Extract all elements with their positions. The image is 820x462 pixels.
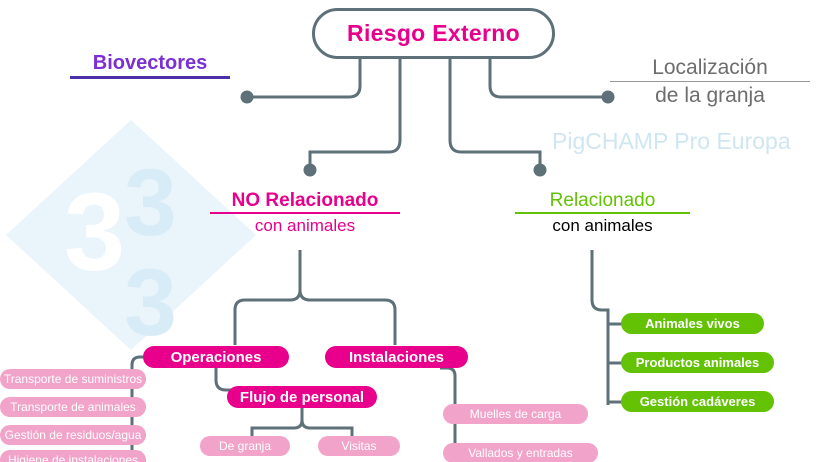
- label-localizacion-line1: Localización: [610, 56, 810, 82]
- brand-watermark-text: PigCHAMP Pro Europa: [552, 128, 820, 155]
- pill-vallados-y-entradas[interactable]: Vallados y entradas: [443, 443, 598, 462]
- label-localizacion-line2: de la granja: [610, 82, 810, 108]
- pill-gestion-de-residuos-agua[interactable]: Gestión de residuos/agua: [0, 425, 146, 445]
- pill-animales-vivos[interactable]: Animales vivos: [621, 313, 764, 334]
- label-biovectores: Biovectores: [70, 52, 230, 79]
- branch-no-relacionado-line2: con animales: [210, 214, 400, 235]
- branch-no-relacionado: NO Relacionado con animales: [210, 190, 400, 235]
- bullet-biovectores: [241, 91, 254, 104]
- pill-instalaciones[interactable]: Instalaciones: [325, 346, 468, 368]
- pill-muelles-de-carga[interactable]: Muelles de carga: [443, 404, 588, 424]
- label-localizacion: Localización de la granja: [610, 56, 810, 107]
- pill-visitas[interactable]: Visitas: [318, 436, 400, 456]
- pill-operaciones[interactable]: Operaciones: [143, 346, 289, 368]
- root-node-riesgo-externo[interactable]: Riesgo Externo: [312, 8, 555, 59]
- pill-flujo-de-personal[interactable]: Flujo de personal: [227, 386, 377, 408]
- pill-gestion-cadaveres[interactable]: Gestión cadáveres: [621, 391, 774, 412]
- pill-transporte-de-suministros[interactable]: Transporte de suministros: [0, 369, 146, 389]
- pill-higiene-de-instalaciones[interactable]: Higiene de instalaciones: [0, 450, 146, 462]
- bullet-no-relacionado: [304, 164, 317, 177]
- bullet-relacionado: [534, 164, 547, 177]
- branch-relacionado-line2: con animales: [515, 214, 690, 235]
- pill-de-granja[interactable]: De granja: [200, 436, 290, 456]
- branch-relacionado-line1: Relacionado: [515, 190, 690, 214]
- diagram-canvas: 3 3 3: [0, 0, 820, 462]
- branch-no-relacionado-line1: NO Relacionado: [210, 190, 400, 214]
- pill-transporte-de-animales[interactable]: Transporte de animales: [0, 397, 146, 417]
- branch-relacionado: Relacionado con animales: [515, 190, 690, 235]
- pill-productos-animales[interactable]: Productos animales: [621, 352, 774, 373]
